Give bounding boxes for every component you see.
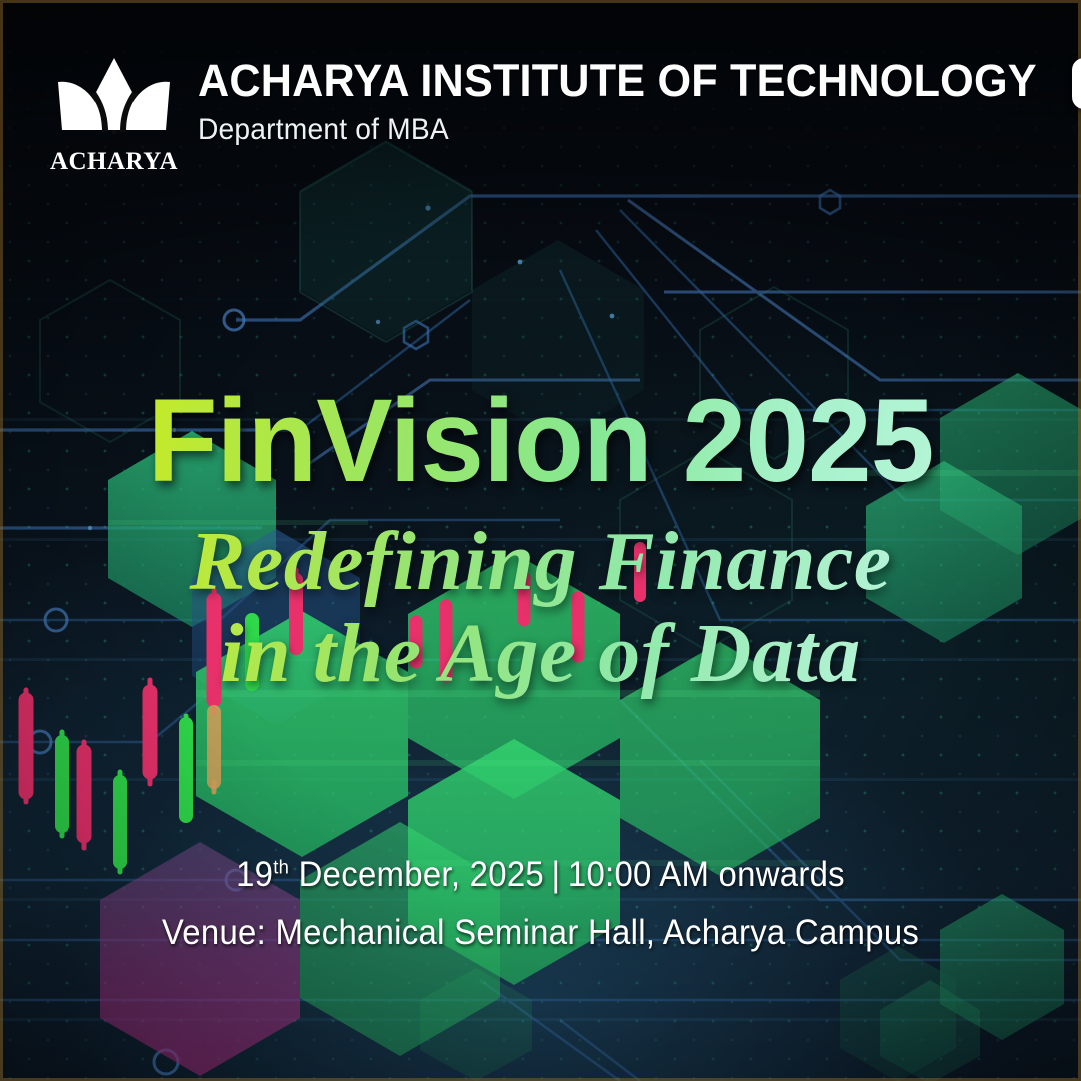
institute-logo: ACHARYA xyxy=(52,56,176,174)
poster-header: ACHARYA ACHARYA INSTITUTE OF TECHNOLOGY … xyxy=(0,0,1081,150)
institute-name: ACHARYA INSTITUTE OF TECHNOLOGY xyxy=(198,58,1037,103)
department-name: Department of MBA xyxy=(198,115,1019,145)
acharya-trident-logo-icon xyxy=(56,56,172,148)
header-titles: ACHARYA INSTITUTE OF TECHNOLOGY Departme… xyxy=(198,56,1072,145)
poster-canvas: ACHARYA ACHARYA INSTITUTE OF TECHNOLOGY … xyxy=(0,0,1081,1081)
logo-wordmark: ACHARYA xyxy=(50,149,178,174)
accreditation-badge: NAAC A ACCREDITED NATIONAL BOARD OF ACCR… xyxy=(1072,58,1081,109)
